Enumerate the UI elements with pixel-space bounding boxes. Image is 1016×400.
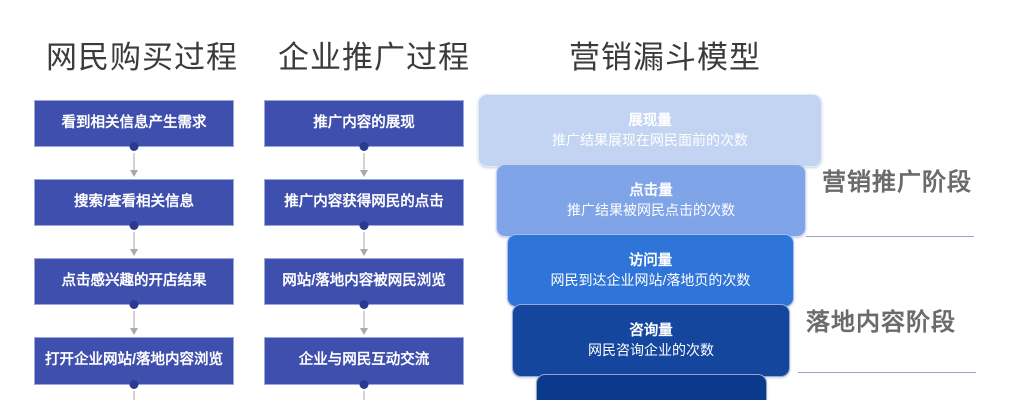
funnel-level-title: 点击量 xyxy=(629,182,673,200)
funnel-title: 营销漏斗模型 xyxy=(569,42,761,73)
arrow-down-icon xyxy=(130,170,138,177)
funnel-level-title: 访问量 xyxy=(629,252,673,270)
flow-connector-arrow xyxy=(264,226,464,258)
arrow-down-icon xyxy=(130,249,138,256)
arrow-down-icon xyxy=(130,328,138,335)
stage-label-marketing: 营销推广阶段 xyxy=(822,162,972,197)
flow-step-label: 企业与网民互动交流 xyxy=(271,352,457,369)
arrow-down-icon xyxy=(360,328,368,335)
connector-dot-icon xyxy=(360,380,369,389)
flow-step-label: 点击感兴趣的开店结果 xyxy=(41,273,227,290)
stage-label-landing: 落地内容阶段 xyxy=(806,302,956,337)
funnel-level[interactable]: 订单量 xyxy=(536,374,767,400)
flow-connector-arrow xyxy=(264,385,464,400)
flow-step-box[interactable]: 点击感兴趣的开店结果 xyxy=(34,258,234,305)
funnel-level-description: 网民到达企业网站/落地页的次数 xyxy=(551,272,751,290)
connector-dot-icon xyxy=(130,221,139,230)
connector-dot-icon xyxy=(360,221,369,230)
flow-connector-arrow xyxy=(34,226,234,258)
connector-line-icon xyxy=(364,391,365,400)
flow-step-box[interactable]: 看到相关信息产生需求 xyxy=(34,100,234,147)
funnel-level-title: 展现量 xyxy=(628,112,672,130)
connector-dot-icon xyxy=(130,300,139,309)
flow-step-label: 网站/落地内容被网民浏览 xyxy=(271,273,457,290)
arrow-down-icon xyxy=(360,170,368,177)
flow-step-label: 看到相关信息产生需求 xyxy=(41,115,227,132)
flow-step-label: 打开企业网站/落地内容浏览 xyxy=(41,352,227,369)
arrow-down-icon xyxy=(360,249,368,256)
flow-step-box[interactable]: 推广内容的展现 xyxy=(264,100,464,147)
flowchart-promotion-process: 推广内容的展现 推广内容获得网民的点击 网站/落地内容被网民浏览 企业与网民互动… xyxy=(264,100,464,400)
flow-connector-arrow xyxy=(264,147,464,179)
funnel-level[interactable]: 点击量推广结果被网民点击的次数 xyxy=(496,164,806,237)
flow-step-label: 推广内容获得网民的点击 xyxy=(271,194,457,211)
flow-step-box[interactable]: 搜索/查看相关信息 xyxy=(34,179,234,226)
funnel-level[interactable]: 咨询量网民咨询企业的次数 xyxy=(512,304,790,377)
connector-dot-icon xyxy=(130,380,139,389)
flow-connector-arrow xyxy=(34,385,234,400)
flow-connector-arrow xyxy=(34,147,234,179)
flow-step-box[interactable]: 企业与网民互动交流 xyxy=(264,337,464,385)
funnel-level-description: 推广结果展现在网民面前的次数 xyxy=(552,132,748,150)
connector-line-icon xyxy=(134,391,135,400)
funnel-level[interactable]: 访问量网民到达企业网站/落地页的次数 xyxy=(507,234,794,307)
flowchart-buyer-process: 看到相关信息产生需求 搜索/查看相关信息 点击感兴趣的开店结果 打开企业网站/落… xyxy=(34,100,234,400)
connector-dot-icon xyxy=(130,142,139,151)
connector-dot-icon xyxy=(360,142,369,151)
connector-dot-icon xyxy=(360,300,369,309)
funnel-level-description: 网民咨询企业的次数 xyxy=(588,342,714,360)
funnel-level-title: 咨询量 xyxy=(629,322,673,340)
diagram-canvas: 网民购买过程 企业推广过程 营销漏斗模型 看到相关信息产生需求 搜索/查看相关信… xyxy=(0,0,1016,400)
funnel-level-description: 推广结果被网民点击的次数 xyxy=(567,202,735,220)
stage-divider xyxy=(806,236,974,237)
flow-step-label: 搜索/查看相关信息 xyxy=(41,194,227,211)
funnel-level[interactable]: 展现量推广结果展现在网民面前的次数 xyxy=(478,94,822,167)
flow-step-box[interactable]: 推广内容获得网民的点击 xyxy=(264,179,464,226)
flow-connector-arrow xyxy=(264,305,464,337)
flow-step-box[interactable]: 网站/落地内容被网民浏览 xyxy=(264,258,464,305)
stage-divider xyxy=(798,372,976,373)
column-title-buyer-process: 网民购买过程 xyxy=(46,42,238,73)
column-title-promotion-process: 企业推广过程 xyxy=(278,42,470,73)
flow-step-box[interactable]: 打开企业网站/落地内容浏览 xyxy=(34,337,234,385)
flow-step-label: 推广内容的展现 xyxy=(271,115,457,132)
flow-connector-arrow xyxy=(34,305,234,337)
